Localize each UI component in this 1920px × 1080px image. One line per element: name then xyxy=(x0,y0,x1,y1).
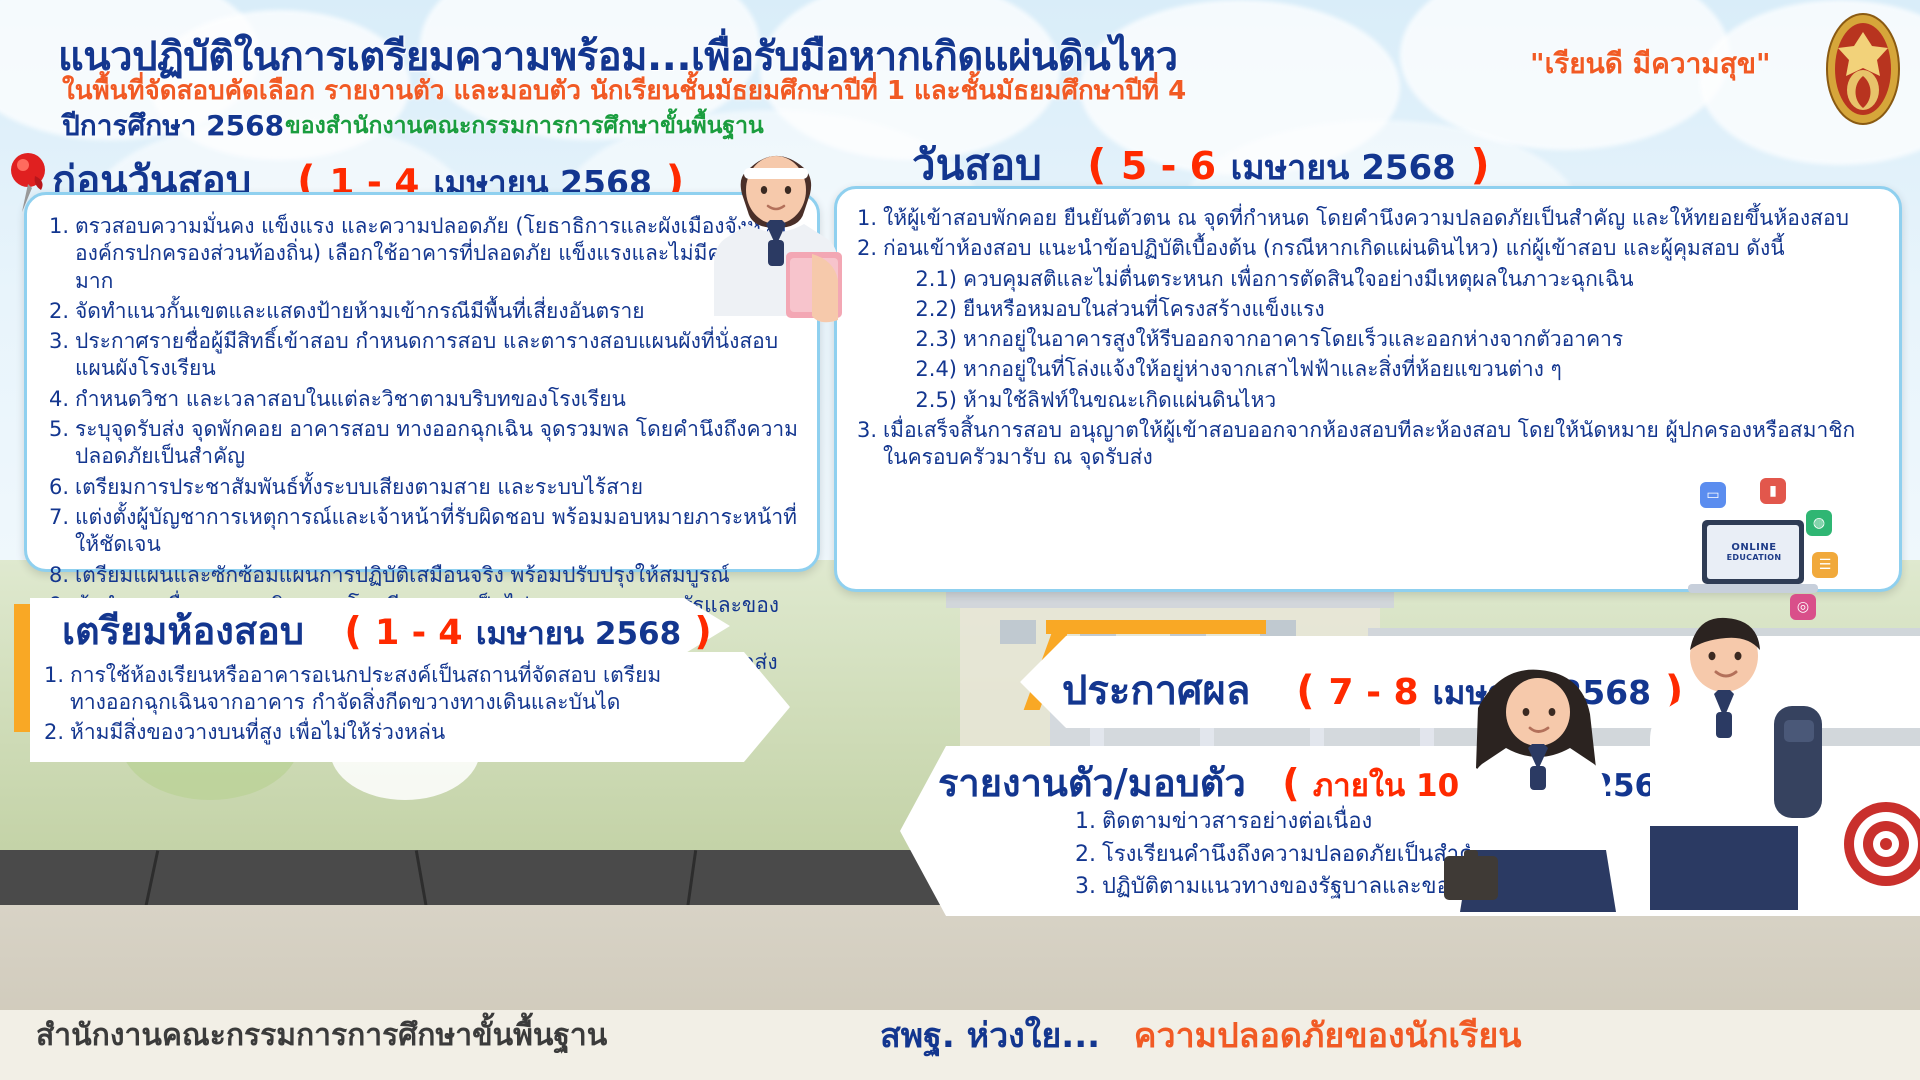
list-item-number: 2.3) xyxy=(903,326,957,353)
list-item: 2.2)ยืนหรือหมอบในส่วนที่โครงสร้างแข็งแรง xyxy=(847,296,1879,323)
section-label: รายงานตัว/มอบตัว xyxy=(938,761,1246,805)
list-item-text: จัดทำแนวกั้นเขตและแสดงป้ายห้ามเข้ากรณีมี… xyxy=(75,298,799,325)
list-item: 2.ก่อนเข้าห้องสอบ แนะนำข้อปฏิบัติเบื้องต… xyxy=(847,235,1879,262)
target-illustration xyxy=(1842,800,1920,888)
section-title-prepare-room: เตรียมห้องสอบ ( 1 - 4 เมษายน 2568 ) xyxy=(62,600,712,661)
list-item: 2.3)หากอยู่ในอาคารสูงให้รีบออกจากอาคารโด… xyxy=(847,326,1879,353)
list-item-text: แต่งตั้งผู้บัญชาการเหตุการณ์และเจ้าหน้าท… xyxy=(75,504,799,559)
list-item-text: ก่อนเข้าห้องสอบ แนะนำข้อปฏิบัติเบื้องต้น… xyxy=(883,235,1879,262)
section-label: วันสอบ xyxy=(912,140,1042,189)
prepare-room-list: 1.การใช้ห้องเรียนหรืออาคารอเนกประสงค์เป็… xyxy=(30,652,790,746)
list-item-text: ระบุจุดรับส่ง จุดพักคอย อาคารสอบ ทางออกฉ… xyxy=(75,416,799,471)
orange-connector-horizontal xyxy=(1046,620,1266,634)
organization-label: ของสำนักงานคณะกรรมการการศึกษาขั้นพื้นฐาน xyxy=(285,108,764,144)
list-item-number: 3. xyxy=(847,417,877,472)
list-item-number: 5. xyxy=(35,416,69,471)
list-item-number: 3. xyxy=(35,328,69,383)
date-range: 5 - 6 xyxy=(1121,144,1216,188)
poster-header: แนวปฏิบัติในการเตรียมความพร้อม...เพื่อรั… xyxy=(0,0,1920,145)
list-item-number: 6. xyxy=(35,474,69,501)
footer-organization: สำนักงานคณะกรรมการการศึกษาขั้นพื้นฐาน xyxy=(36,1012,607,1059)
list-item-number: 2. xyxy=(1070,841,1096,870)
list-item: 1.ตรวสอบความมั่นคง แข็งแรง และความปลอดภั… xyxy=(35,213,799,295)
list-item-number: 3. xyxy=(1070,873,1096,902)
list-item-text: ห้ามมีสิ่งของวางบนที่สูง เพื่อไม่ให้ร่วง… xyxy=(70,719,730,746)
list-item-number: 1. xyxy=(38,662,64,717)
laptop-line-2: EDUCATION xyxy=(1726,553,1782,562)
list-item: 7.แต่งตั้งผู้บัญชาการเหตุการณ์และเจ้าหน้… xyxy=(35,504,799,559)
paren-open: ( xyxy=(1087,140,1106,189)
list-item-number: 4. xyxy=(35,386,69,413)
list-item-text: กำหนดวิชา และเวลาสอบในแต่ละวิชาตามบริบทข… xyxy=(75,386,799,413)
list-item-text: ควบคุมสติและไม่ตื่นตระหนก เพื่อการตัดสิน… xyxy=(963,266,1879,293)
list-item-number: 2. xyxy=(35,298,69,325)
list-item-number: 1. xyxy=(1070,808,1096,837)
date-month: เมษายน 2568 xyxy=(1231,148,1456,188)
footer-slogan: สพฐ. ห่วงใย... ความปลอดภัยของนักเรียน xyxy=(880,1008,1521,1062)
academic-year-label: ปีการศึกษา 2568 xyxy=(62,104,284,148)
list-item-text: เมื่อเสร็จสิ้นการสอบ อนุญาตให้ผู้เข้าสอบ… xyxy=(883,417,1879,472)
list-item: 3.ประกาศรายชื่อผู้มีสิทธิ์เข้าสอบ กำหนดก… xyxy=(35,328,799,383)
window xyxy=(1000,620,1036,644)
list-item-text: ให้ผู้เข้าสอบพักคอย ยืนยันตัวตน ณ จุดที่… xyxy=(883,205,1879,232)
list-item: 1.ให้ผู้เข้าสอบพักคอย ยืนยันตัวตน ณ จุดท… xyxy=(847,205,1879,232)
exam-day-list: 1.ให้ผู้เข้าสอบพักคอย ยืนยันตัวตน ณ จุดท… xyxy=(837,189,1899,472)
footer-slogan-orange: ความปลอดภัยของนักเรียน xyxy=(1134,1016,1522,1056)
laptop-line-1: ONLINE xyxy=(1726,542,1782,553)
paren-open: ( xyxy=(344,609,361,653)
list-item-text: ตรวสอบความมั่นคง แข็งแรง และความปลอดภัย … xyxy=(75,213,799,295)
paren-open: ( xyxy=(1282,761,1299,805)
list-item-number: 2. xyxy=(38,719,64,746)
list-item: 2.ห้ามมีสิ่งของวางบนที่สูง เพื่อไม่ให้ร่… xyxy=(38,719,730,746)
list-item-number: 8. xyxy=(35,562,69,589)
list-item-number: 2.5) xyxy=(903,387,957,414)
section-label: ประกาศผล xyxy=(1062,668,1250,714)
monitor-icon: ▭ xyxy=(1700,482,1726,508)
list-item: 6.เตรียมการประชาสัมพันธ์ทั้งระบบเสียงตาม… xyxy=(35,474,799,501)
paren-close: ) xyxy=(694,609,711,653)
list-item: 2.จัดทำแนวกั้นเขตและแสดงป้ายห้ามเข้ากรณี… xyxy=(35,298,799,325)
list-item: 3.เมื่อเสร็จสิ้นการสอบ อนุญาตให้ผู้เข้าส… xyxy=(847,417,1879,472)
list-item: 1.การใช้ห้องเรียนหรืออาคารอเนกประสงค์เป็… xyxy=(38,662,730,717)
slogan-text: "เรียนดี มีความสุข" xyxy=(1530,42,1771,86)
list-item: 8.เตรียมแผนและซักซ้อมแผนการปฏิบัติเสมือน… xyxy=(35,562,799,589)
list-item: 4.กำหนดวิชา และเวลาสอบในแต่ละวิชาตามบริบ… xyxy=(35,386,799,413)
footer-slogan-blue: สพฐ. ห่วงใย... xyxy=(880,1016,1100,1056)
list-item-text: หากอยู่ในที่โล่งแจ้งให้อยู่ห่างจากเสาไฟฟ… xyxy=(963,356,1879,383)
list-icon: ☰ xyxy=(1812,552,1838,578)
globe-icon: ◍ xyxy=(1806,510,1832,536)
prepare-room-box: 1.การใช้ห้องเรียนหรืออาคารอเนกประสงค์เป็… xyxy=(30,652,790,762)
garuda-emblem-icon xyxy=(1822,10,1904,128)
list-item-number: 2.1) xyxy=(903,266,957,293)
paren-close: ) xyxy=(1470,140,1489,189)
list-item-number: 1. xyxy=(35,213,69,295)
list-item-text: หากอยู่ในอาคารสูงให้รีบออกจากอาคารโดยเร็… xyxy=(963,326,1879,353)
date-month: เมษายน 2568 xyxy=(476,616,681,652)
date-range: 1 - 4 xyxy=(375,613,463,653)
female-student-illustration xyxy=(1420,660,1690,912)
list-item-text: เตรียมแผนและซักซ้อมแผนการปฏิบัติเสมือนจร… xyxy=(75,562,799,589)
list-item-text: ประกาศรายชื่อผู้มีสิทธิ์เข้าสอบ กำหนดการ… xyxy=(75,328,799,383)
list-item: 2.1)ควบคุมสติและไม่ตื่นตระหนก เพื่อการตั… xyxy=(847,266,1879,293)
list-item: 2.4)หากอยู่ในที่โล่งแจ้งให้อยู่ห่างจากเส… xyxy=(847,356,1879,383)
list-item-text: ห้ามใช้ลิฟท์ในขณะเกิดแผ่นดินไหว xyxy=(963,387,1879,414)
book-icon: ▮ xyxy=(1760,478,1786,504)
teacher-illustration xyxy=(694,128,854,328)
list-item: 2.5)ห้ามใช้ลิฟท์ในขณะเกิดแผ่นดินไหว xyxy=(847,387,1879,414)
list-item-text: การใช้ห้องเรียนหรืออาคารอเนกประสงค์เป็นส… xyxy=(70,662,730,717)
list-item-text: ยืนหรือหมอบในส่วนที่โครงสร้างแข็งแรง xyxy=(963,296,1879,323)
list-item-number: 2.2) xyxy=(903,296,957,323)
orange-connector-vertical xyxy=(14,604,30,732)
list-item: 5.ระบุจุดรับส่ง จุดพักคอย อาคารสอบ ทางออ… xyxy=(35,416,799,471)
section-label: เตรียมห้องสอบ xyxy=(62,609,304,653)
list-item-text: เตรียมการประชาสัมพันธ์ทั้งระบบเสียงตามสา… xyxy=(75,474,799,501)
list-item-number: 2.4) xyxy=(903,356,957,383)
list-item-number: 7. xyxy=(35,504,69,559)
paren-open: ( xyxy=(1296,668,1314,714)
online-education-laptop: ONLINE EDUCATION xyxy=(1688,516,1818,600)
date-range: 7 - 8 xyxy=(1328,672,1418,713)
